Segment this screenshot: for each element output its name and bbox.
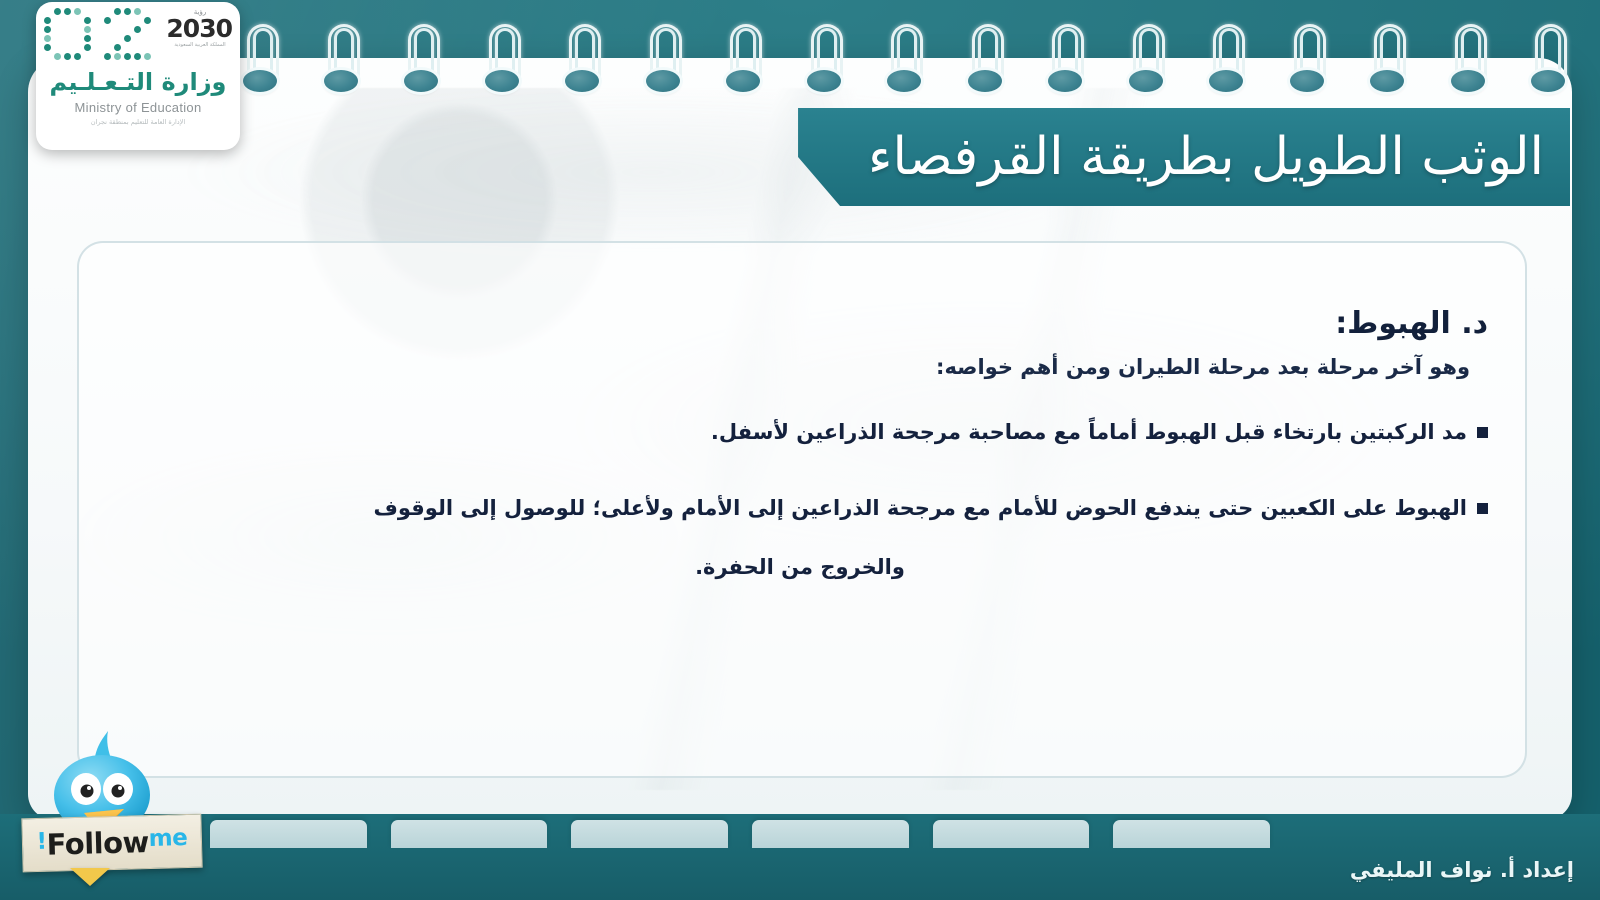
slide-root: رؤية 2030 المملكة العربية السعودية وزارة… bbox=[0, 0, 1600, 900]
follow-me-sign[interactable]: Followme! bbox=[21, 814, 202, 873]
ministry-name-en: Ministry of Education bbox=[36, 100, 240, 115]
bottom-tab[interactable] bbox=[1113, 820, 1270, 848]
author-signature: إعداد أ. نواف المليفي bbox=[1350, 858, 1574, 882]
vision-dot-pattern-icon bbox=[44, 8, 164, 68]
list-item-text: الهبوط على الكعبين حتى يندفع الحوض للأما… bbox=[112, 489, 1467, 529]
list-item: مد الركبتين بارتخاء قبل الهبوط أماماً مع… bbox=[112, 413, 1488, 453]
slide-title-banner: الوثب الطويل بطريقة القرفصاء bbox=[798, 108, 1570, 206]
vision-sub: المملكة العربية السعودية bbox=[168, 42, 232, 48]
section-heading: د. الهبوط: bbox=[112, 306, 1488, 341]
list-item-text: مد الركبتين بارتخاء قبل الهبوط أماماً مع… bbox=[112, 413, 1467, 453]
bottom-tab[interactable] bbox=[391, 820, 548, 848]
ministry-logo-card: رؤية 2030 المملكة العربية السعودية وزارة… bbox=[36, 2, 240, 150]
ministry-department-sub: الإدارة العامة للتعليم بمنطقة نجران bbox=[36, 118, 240, 126]
vision-year: 2030 bbox=[168, 16, 232, 42]
bottom-tab[interactable] bbox=[752, 820, 909, 848]
follow-me-widget[interactable]: Followme! bbox=[8, 723, 218, 888]
bottom-tab[interactable] bbox=[210, 820, 367, 848]
follow-label: Follow bbox=[46, 825, 149, 862]
logo-top-row: رؤية 2030 المملكة العربية السعودية bbox=[44, 8, 232, 68]
list-item: الهبوط على الكعبين حتى يندفع الحوض للأما… bbox=[112, 489, 1488, 529]
list-item-continuation: والخروج من الحفرة. bbox=[112, 555, 1488, 579]
tab-strip bbox=[210, 820, 1270, 848]
section-lead: وهو آخر مرحلة بعد مرحلة الطيران ومن أهم … bbox=[112, 355, 1488, 379]
square-bullet-icon bbox=[1477, 427, 1488, 438]
bottom-tab[interactable] bbox=[933, 820, 1090, 848]
ministry-name-ar: وزارة التـعـلـيم bbox=[36, 68, 240, 96]
slide-body: د. الهبوط: وهو آخر مرحلة بعد مرحلة الطير… bbox=[112, 306, 1488, 579]
page-title: الوثب الطويل بطريقة القرفصاء bbox=[868, 131, 1544, 183]
square-bullet-icon bbox=[1477, 503, 1488, 514]
vision-2030-logo: رؤية 2030 المملكة العربية السعودية bbox=[168, 8, 232, 66]
bottom-tab[interactable] bbox=[571, 820, 728, 848]
down-arrow-icon bbox=[70, 868, 110, 886]
